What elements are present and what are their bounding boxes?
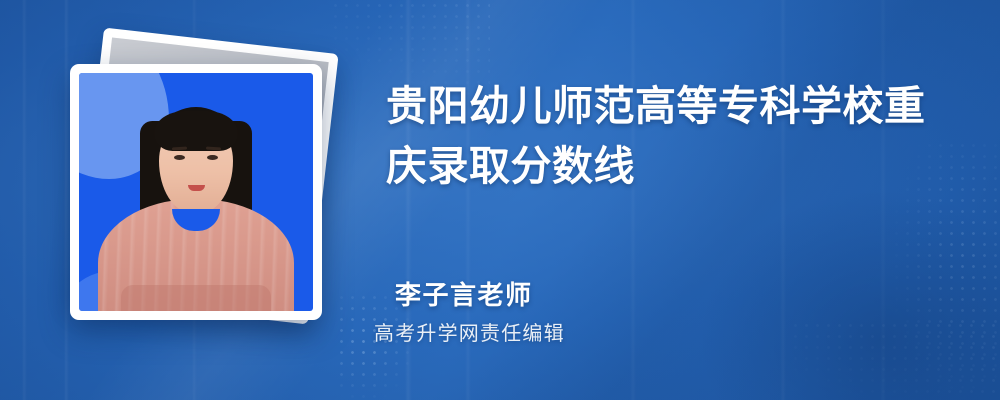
author-name: 李子言老师 — [395, 275, 533, 312]
photo-card-front — [70, 64, 322, 320]
hair-fringe — [154, 111, 238, 151]
article-cover-banner: 贵阳幼儿师范高等专科学校重庆录取分数线 李子言老师 高考升学网责任编辑 — [0, 0, 1000, 400]
page-title: 贵阳幼儿师范高等专科学校重庆录取分数线 — [386, 76, 956, 196]
photo-card-stack — [0, 0, 360, 400]
text-column: 贵阳幼儿师范高等专科学校重庆录取分数线 李子言老师 高考升学网责任编辑 — [386, 0, 976, 400]
eye-left — [174, 155, 185, 160]
dress-waistband — [121, 285, 271, 311]
author-role: 高考升学网责任编辑 — [374, 317, 565, 346]
id-photo — [79, 73, 313, 311]
portrait-figure — [81, 101, 311, 311]
mouth — [188, 185, 205, 191]
eye-right — [207, 155, 218, 160]
